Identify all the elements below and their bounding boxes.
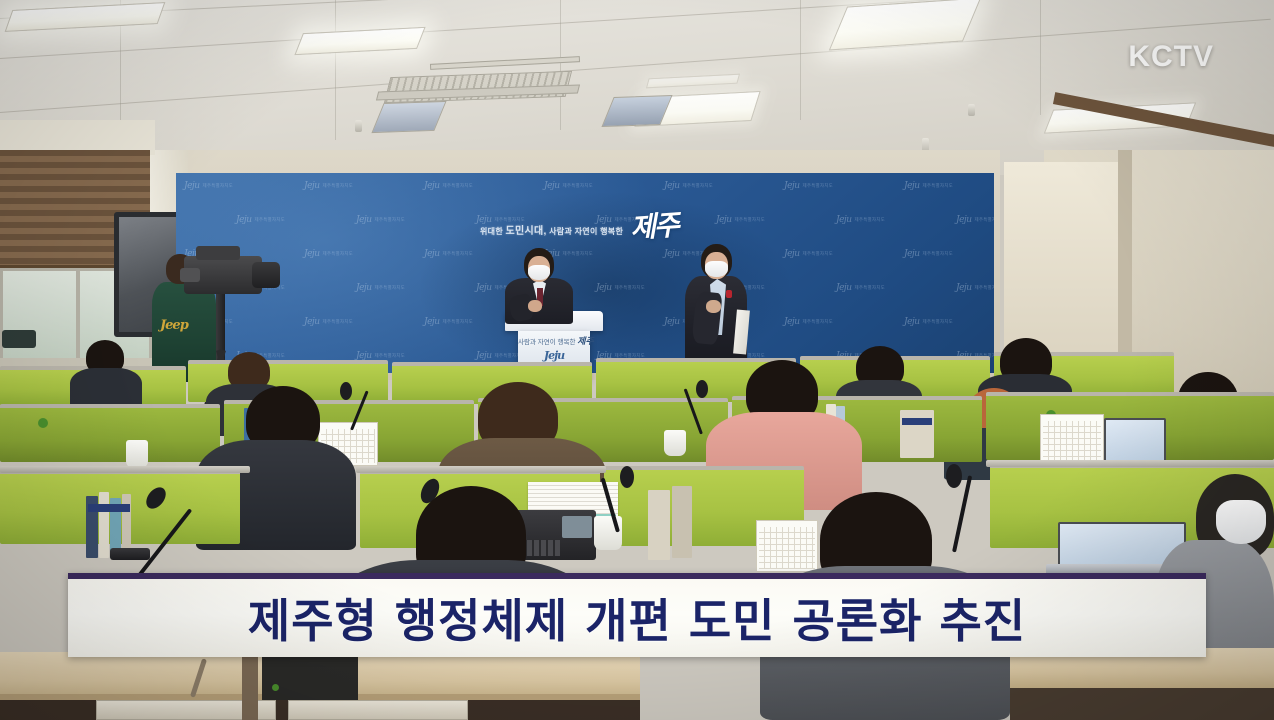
backdrop-watermark: Jeju제주특별자치도 [424, 317, 473, 327]
reporter-face-mask [1216, 500, 1266, 544]
backdrop-watermark-logo: Jeju [424, 249, 440, 259]
paper-cup [664, 430, 686, 456]
backdrop-watermark-logo: Jeju [304, 181, 320, 191]
headline-text: 제주형 행정체제 개편 도민 공론화 추진 [248, 585, 1026, 651]
sprinkler-head [968, 104, 975, 116]
partition-rail [986, 460, 1274, 467]
backdrop-watermark-logo: Jeju [304, 317, 320, 327]
sweatshirt-logo: Jeep [160, 318, 206, 333]
slogan-part-3: 사람과 자연이 행복한 [549, 227, 623, 236]
speaker-1-hand [528, 300, 542, 312]
file-holder [672, 486, 692, 558]
backdrop-watermark: Jeju제주특별자치도 [904, 317, 953, 327]
speaker-2-lapel-badge [726, 290, 732, 298]
backdrop-watermark-logo: Jeju [664, 181, 680, 191]
backdrop-watermark-logo: Jeju [236, 215, 252, 225]
backdrop-watermark-text: 제주특별자치도 [923, 319, 953, 325]
partition-rail [0, 466, 250, 473]
backdrop-watermark: Jeju제주특별자치도 [784, 181, 833, 191]
backdrop-watermark-text: 제주특별자치도 [855, 217, 885, 223]
backdrop-watermark: Jeju제주특별자치도 [356, 283, 405, 293]
ceiling [0, 0, 1274, 175]
right-wall-recess [1004, 162, 1122, 367]
desk-phone-screen [562, 516, 592, 538]
backdrop-watermark: Jeju제주특별자치도 [836, 283, 885, 293]
paper-cup [126, 440, 148, 468]
desk-cabinet [288, 700, 468, 720]
backdrop-watermark-text: 제주특별자치도 [255, 217, 285, 223]
backdrop-watermark-logo: Jeju [784, 181, 800, 191]
backdrop-watermark-text: 제주특별자치도 [683, 183, 713, 189]
partition-rail [356, 466, 606, 473]
sprinkler-head [355, 120, 362, 132]
backdrop-watermark-text: 제주특별자치도 [975, 217, 994, 223]
backdrop-watermark: Jeju제주특별자치도 [304, 317, 353, 327]
cubicle-partition [0, 404, 220, 462]
binder-label [88, 504, 130, 512]
backdrop-watermark: Jeju제주특별자치도 [184, 181, 233, 191]
backdrop-watermark-logo: Jeju [664, 317, 680, 327]
backdrop-watermark: Jeju제주특별자치도 [956, 283, 994, 293]
backdrop-watermark-text: 제주특별자치도 [735, 217, 765, 223]
backdrop-watermark-logo: Jeju [904, 181, 920, 191]
backdrop-watermark: Jeju제주특별자치도 [784, 317, 833, 327]
backdrop-watermark-text: 제주특별자치도 [203, 183, 233, 189]
paper-cup [594, 516, 622, 550]
desk-calendar [756, 520, 818, 572]
backdrop-watermark-text: 제주특별자치도 [563, 251, 593, 257]
right-wall-corner [1118, 150, 1132, 375]
backdrop-watermark-logo: Jeju [784, 249, 800, 259]
backdrop-brandmark: 제주 [629, 203, 679, 246]
backdrop-watermark: Jeju제주특별자치도 [424, 249, 473, 259]
under-desk-shadow [1010, 688, 1274, 720]
backdrop-watermark-logo: Jeju [596, 283, 612, 293]
backdrop-watermark-text: 제주특별자치도 [803, 319, 833, 325]
backdrop-watermark-text: 제주특별자치도 [443, 183, 473, 189]
podium-label-prefix: 사람과 자연이 행복한 [518, 339, 575, 346]
equipment-under-desk [262, 656, 358, 700]
backdrop-watermark: Jeju제주특별자치도 [664, 181, 713, 191]
backdrop-watermark-logo: Jeju [424, 181, 440, 191]
podium-label-brand: 제주 [577, 337, 594, 347]
backdrop-watermark: Jeju제주특별자치도 [596, 283, 645, 293]
equipment-indicator [272, 684, 279, 691]
channel-watermark: KCTV [1128, 40, 1214, 74]
backdrop-watermark-logo: Jeju [956, 215, 972, 225]
backdrop-watermark: Jeju제주특별자치도 [904, 249, 953, 259]
backdrop-watermark-logo: Jeju [476, 351, 492, 361]
backdrop-watermark-text: 제주특별자치도 [615, 285, 645, 291]
backdrop-watermark-logo: Jeju [904, 317, 920, 327]
backdrop-watermark: Jeju제주특별자치도 [236, 215, 285, 225]
backdrop-watermark-logo: Jeju [716, 215, 732, 225]
lower-third-banner: 제주형 행정체제 개편 도민 공론화 추진 [68, 573, 1206, 657]
backdrop-watermark: Jeju제주특별자치도 [544, 181, 593, 191]
backdrop-watermark: Jeju제주특별자치도 [304, 249, 353, 259]
calendar-grid [759, 527, 815, 569]
backdrop-watermark-logo: Jeju [904, 249, 920, 259]
speaker-2-hand [706, 300, 721, 313]
backdrop-watermark-text: 제주특별자치도 [975, 285, 994, 291]
backdrop-watermark-text: 제주특별자치도 [375, 353, 405, 359]
backdrop-watermark: Jeju제주특별자치도 [716, 215, 765, 225]
backdrop-watermark: Jeju제주특별자치도 [836, 215, 885, 225]
backdrop-watermark-logo: Jeju [424, 317, 440, 327]
partition-fastener [38, 418, 48, 428]
podium-label: 사람과 자연이 행복한 제주 [518, 334, 590, 347]
microphone-head [946, 464, 962, 488]
file-holder [648, 490, 670, 560]
microphone-head [340, 382, 352, 400]
backdrop-watermark: Jeju제주특별자치도 [956, 215, 994, 225]
binder-label [902, 418, 932, 425]
backdrop-watermark-text: 제주특별자치도 [563, 183, 593, 189]
backdrop-watermark-logo: Jeju [356, 215, 372, 225]
backdrop-watermark-logo: Jeju [184, 181, 200, 191]
backdrop-watermark-text: 제주특별자치도 [375, 285, 405, 291]
backdrop-watermark-text: 제주특별자치도 [323, 183, 353, 189]
backdrop-watermark-logo: Jeju [476, 283, 492, 293]
desk-leg [242, 652, 258, 720]
backdrop-watermark-text: 제주특별자치도 [803, 251, 833, 257]
speaker-1-face-mask [528, 265, 550, 280]
backdrop-watermark: Jeju제주특별자치도 [784, 249, 833, 259]
podium-front-mark: Jeju [518, 349, 590, 362]
backdrop-watermark-logo: Jeju [836, 215, 852, 225]
window-object-shadow [2, 330, 36, 348]
backdrop-watermark-logo: Jeju [956, 283, 972, 293]
backdrop-watermark-text: 제주특별자치도 [923, 251, 953, 257]
backdrop-watermark-text: 제주특별자치도 [443, 251, 473, 257]
backdrop-watermark-text: 제주특별자치도 [443, 319, 473, 325]
backdrop-watermark-text: 제주특별자치도 [323, 319, 353, 325]
backdrop-watermark: Jeju제주특별자치도 [356, 215, 405, 225]
slogan-part-2: 도민시대, [506, 226, 547, 237]
backdrop-watermark-text: 제주특별자치도 [803, 183, 833, 189]
backdrop-watermark-logo: Jeju [544, 181, 560, 191]
backdrop-watermark-logo: Jeju [784, 317, 800, 327]
microphone-head [620, 466, 634, 488]
video-camera-hood [196, 246, 240, 260]
backdrop-watermark-text: 제주특별자치도 [923, 183, 953, 189]
backdrop-watermark-logo: Jeju [836, 283, 852, 293]
backdrop-watermark: Jeju제주특별자치도 [424, 181, 473, 191]
broadcast-frame: Jeju제주특별자치도Jeju제주특별자치도Jeju제주특별자치도Jeju제주특… [0, 0, 1274, 720]
backdrop-watermark-logo: Jeju [356, 283, 372, 293]
microphone-head [696, 380, 708, 398]
backdrop-watermark-logo: Jeju [664, 249, 680, 259]
video-camera-viewfinder [180, 268, 200, 282]
microphone-base [110, 548, 150, 560]
backdrop-watermark: Jeju제주특별자치도 [904, 181, 953, 191]
backdrop-watermark-logo: Jeju [304, 249, 320, 259]
speaker-2-face-mask [705, 261, 728, 277]
video-camera-lens [252, 262, 280, 288]
backdrop-watermark: Jeju제주특별자치도 [304, 181, 353, 191]
ceiling-vent-panel-left [371, 101, 446, 133]
book [99, 492, 109, 558]
backdrop-watermark-text: 제주특별자치도 [855, 285, 885, 291]
backdrop-watermark-text: 제주특별자치도 [375, 217, 405, 223]
backdrop-watermark-text: 제주특별자치도 [323, 251, 353, 257]
slogan-part-1: 위대한 [480, 227, 503, 236]
